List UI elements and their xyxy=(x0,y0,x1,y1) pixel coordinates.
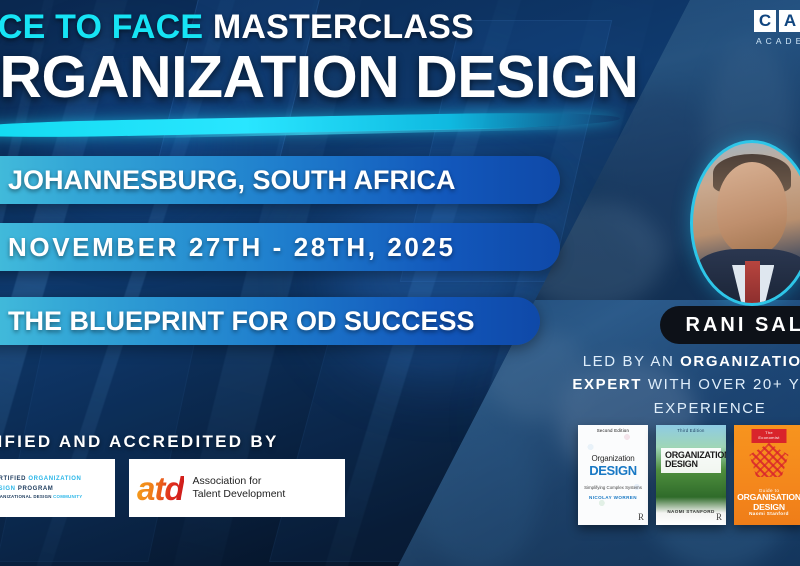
book1-title-small: Organization xyxy=(592,454,635,463)
speaker-name-badge: RANI SALMAN xyxy=(660,306,800,344)
book-cover-1: Second Edition Organization DESIGN Simpl… xyxy=(578,425,648,525)
info-bar-dates-text: NOVEMBER 27TH - 28TH, 2025 xyxy=(0,232,456,263)
book1-title: Organization DESIGN xyxy=(578,455,648,478)
codp-line1-b: ORGANIZATION xyxy=(28,476,81,482)
atd-logo: atd Association for Talent Development xyxy=(129,459,345,517)
kicker-rest: MASTERCLASS xyxy=(213,8,474,46)
speaker-blurb-part4: WITH OVER 20+ YEARS xyxy=(642,376,800,393)
brand-letter-blocks: C A P xyxy=(754,10,800,32)
page-title: ORGANIZATION DESIGN xyxy=(0,48,674,107)
book1-edition: Second Edition xyxy=(578,425,648,433)
atd-subtext-line2: Talent Development xyxy=(193,488,286,501)
avatar-tie xyxy=(745,261,760,303)
avatar-face xyxy=(717,162,788,255)
book1-subtitle: Simplifying Complex Systems xyxy=(578,485,648,490)
info-bar-dates: NOVEMBER 27TH - 28TH, 2025 xyxy=(0,223,560,271)
codp-logo-text: CERTIFIED ORGANIZATION DESIGN PROGRAM OR… xyxy=(0,475,82,500)
book2-publisher-mark: R xyxy=(716,512,722,522)
atd-wordmark: atd xyxy=(137,472,184,505)
atd-subtext: Association for Talent Development xyxy=(193,475,286,502)
speaker-blurb-part2: ORGANIZATIONAL xyxy=(680,353,800,370)
brand-letter: A xyxy=(779,10,800,32)
atd-subtext-line1: Association for xyxy=(193,475,286,488)
brand-subtitle: ACADEMY xyxy=(754,36,800,46)
codp-line1-a: CERTIFIED xyxy=(0,476,28,482)
accreditation-label: CERTIFIED AND ACCREDITED BY xyxy=(0,432,279,452)
brand-letter: C xyxy=(754,10,776,32)
headline-block: FACE TO FACE MASTERCLASS ORGANIZATION DE… xyxy=(0,10,674,107)
info-bar-location: JOHANNESBURG, SOUTH AFRICA xyxy=(0,156,560,204)
codp-line2-b: PROGRAM xyxy=(18,486,54,492)
codp-logo: CERTIFIED ORGANIZATION DESIGN PROGRAM OR… xyxy=(0,459,115,517)
promotional-banner: FACE TO FACE MASTERCLASS ORGANIZATION DE… xyxy=(0,0,800,566)
book-cover-3: The Economist Guide to ORGANISATION DESI… xyxy=(734,425,800,525)
book3-title-block: Guide to ORGANISATION DESIGN xyxy=(734,488,800,513)
book3-author: Naomi Stanford xyxy=(734,511,800,516)
codp-line3-a: ORGANIZATIONAL DESIGN xyxy=(0,494,53,499)
speaker-avatar xyxy=(690,140,800,306)
book3-network-graphic xyxy=(749,443,788,477)
speaker-blurb-part1: LED BY AN xyxy=(583,353,680,370)
codp-line2-a: DESIGN xyxy=(0,486,18,492)
book2-title-plate: ORGANIZATION DESIGN xyxy=(661,448,721,473)
book1-publisher-mark: R xyxy=(638,512,644,522)
book1-author: NICOLAY WORREN xyxy=(578,495,648,500)
codp-line3-b: COMMUNITY xyxy=(53,494,82,499)
book-cover-2: Third Edition ORGANIZATION DESIGN NAOMI … xyxy=(656,425,726,525)
info-bar-tagline: THE BLUEPRINT FOR OD SUCCESS xyxy=(0,297,540,345)
kicker-highlight: FACE TO FACE xyxy=(0,8,203,46)
book1-title-big: DESIGN xyxy=(578,464,648,478)
book2-edition: Third Edition xyxy=(656,425,726,433)
info-bar-tagline-text: THE BLUEPRINT FOR OD SUCCESS xyxy=(0,306,475,337)
accreditation-logo-row: CERTIFIED ORGANIZATION DESIGN PROGRAM OR… xyxy=(0,459,345,517)
kicker-line: FACE TO FACE MASTERCLASS xyxy=(0,10,674,44)
info-bar-location-text: JOHANNESBURG, SOUTH AFRICA xyxy=(0,165,456,196)
book3-title: ORGANISATION DESIGN xyxy=(734,493,800,513)
speaker-blurb-part3: EXPERT xyxy=(572,376,642,393)
book-covers-row: Second Edition Organization DESIGN Simpl… xyxy=(578,425,800,525)
book3-publisher-logo: The Economist xyxy=(752,429,787,443)
book2-title: ORGANIZATION DESIGN xyxy=(665,451,717,470)
speaker-name: RANI SALMAN xyxy=(686,314,800,337)
speaker-blurb: LED BY AN ORGANIZATIONAL EXPERT WITH OVE… xyxy=(560,350,800,420)
brand-logo: C A P ACADEMY xyxy=(754,10,800,46)
speaker-blurb-part5: EXPERIENCE xyxy=(654,400,767,417)
